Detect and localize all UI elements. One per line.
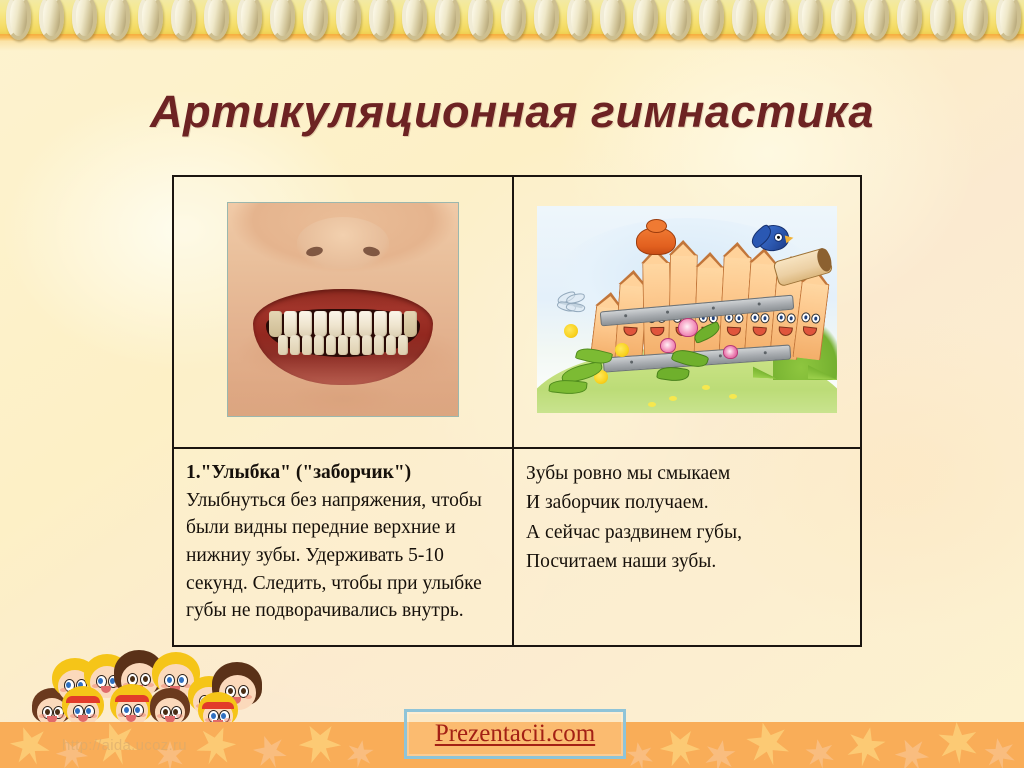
- dragonfly-icon: [549, 293, 585, 315]
- binding-ring: [39, 0, 64, 40]
- picket-eye: [801, 312, 811, 323]
- binding-ring: [534, 0, 559, 40]
- tooth: [344, 311, 358, 337]
- ground-dot: [648, 402, 656, 407]
- chin-shading: [228, 356, 458, 416]
- binding-ring: [864, 0, 889, 40]
- maple-leaf-icon: [4, 720, 55, 768]
- tooth: [299, 311, 313, 337]
- binding-ring: [765, 0, 790, 40]
- dragonfly-wing: [565, 301, 586, 314]
- binding-ring: [336, 0, 361, 40]
- poem-line: И заборчик получаем.: [526, 488, 848, 517]
- exercise-body: Улыбнуться без напряжения, чтобы были ви…: [186, 487, 500, 625]
- child-cheek: [90, 714, 97, 718]
- poem-line: Посчитаем наши зубы.: [526, 547, 848, 576]
- binding-ring: [963, 0, 988, 40]
- spiral-notebook-binding: [0, 0, 1024, 46]
- fence-illustration: [537, 206, 837, 413]
- maple-leaf-icon: [248, 730, 292, 768]
- binding-rings: [0, 0, 1024, 44]
- binding-ring: [138, 0, 163, 40]
- binding-ring: [732, 0, 757, 40]
- tooth: [284, 311, 298, 337]
- tooth: [389, 311, 403, 337]
- maple-leaf-icon: [803, 737, 838, 768]
- tooth: [314, 311, 328, 337]
- binding-ring: [303, 0, 328, 40]
- maple-leaf-icon: [842, 723, 889, 768]
- tooth: [362, 335, 373, 355]
- picket-smile: [727, 327, 741, 337]
- binding-ring: [501, 0, 526, 40]
- exercise-heading: 1."Улыбка" ("заборчик"): [186, 459, 500, 487]
- poem-line: А сейчас раздвинем губы,: [526, 518, 848, 547]
- binding-ring: [72, 0, 97, 40]
- table-row-images: [173, 176, 861, 448]
- tooth: [329, 311, 343, 337]
- binding-ring: [204, 0, 229, 40]
- picket-smile: [623, 327, 638, 337]
- tooth: [386, 335, 397, 355]
- binding-ring: [699, 0, 724, 40]
- maple-leaf-icon: [624, 740, 656, 768]
- binding-ring: [402, 0, 427, 40]
- nose: [297, 217, 389, 269]
- tooth: [350, 335, 361, 355]
- flower-pink: [723, 345, 738, 359]
- binding-ring: [237, 0, 262, 40]
- binding-ring: [369, 0, 394, 40]
- poem-line: Зубы ровно мы смыкаем: [526, 459, 848, 488]
- maple-leaf-icon: [889, 732, 934, 768]
- binding-ring: [996, 0, 1021, 40]
- binding-ring: [633, 0, 658, 40]
- child-cheek: [118, 713, 125, 717]
- tooth: [404, 311, 418, 337]
- maple-leaf-icon: [981, 735, 1018, 768]
- child-headband: [115, 695, 150, 702]
- cell-exercise-description: 1."Улыбка" ("заборчик") Улыбнуться без н…: [173, 448, 513, 646]
- children-illustration: [22, 644, 287, 730]
- binding-ring: [798, 0, 823, 40]
- binding-ring: [105, 0, 130, 40]
- prezentacii-link[interactable]: Prezentacii.com: [435, 720, 595, 748]
- picket-eye: [760, 313, 770, 324]
- binding-ring: [600, 0, 625, 40]
- binding-ring: [468, 0, 493, 40]
- tooth: [398, 335, 409, 355]
- picket-smile: [650, 327, 664, 336]
- picket-smile: [802, 326, 817, 337]
- picket-eye: [734, 313, 744, 323]
- binding-ring: [435, 0, 460, 40]
- child-cheek: [245, 695, 252, 699]
- maple-leaf-icon: [344, 738, 376, 768]
- bird-beak: [785, 233, 794, 242]
- binding-ring: [567, 0, 592, 40]
- binding-ring: [6, 0, 31, 40]
- maple-leaf-icon: [936, 721, 981, 766]
- cell-smile-photo: [173, 176, 513, 448]
- tooth: [302, 335, 313, 355]
- maple-leaf-icon: [741, 717, 794, 768]
- tooth: [314, 335, 325, 355]
- source-link-box[interactable]: Prezentacii.com: [404, 709, 626, 759]
- tooth: [338, 335, 349, 355]
- picket-smile: [752, 327, 767, 337]
- child-cheek: [70, 714, 77, 718]
- picket-eye: [811, 313, 821, 324]
- picket-eye: [750, 312, 760, 323]
- maple-leaf-icon: [190, 720, 242, 768]
- binding-ring: [270, 0, 295, 40]
- maple-leaf-icon: [701, 737, 738, 768]
- lower-teeth: [277, 335, 409, 355]
- smile-photo: [227, 202, 459, 417]
- ground-dot: [669, 396, 677, 401]
- bird-eye: [773, 232, 784, 243]
- cell-poem: Зубы ровно мы смыкаем И заборчик получае…: [513, 448, 861, 646]
- picket-smile: [778, 327, 793, 337]
- binding-ring: [930, 0, 955, 40]
- tooth: [269, 311, 283, 337]
- tooth: [290, 335, 301, 355]
- table-row-text: 1."Улыбка" ("заборчик") Улыбнуться без н…: [173, 448, 861, 646]
- tooth: [278, 335, 289, 355]
- binding-ring: [897, 0, 922, 40]
- picket-eye: [776, 312, 786, 323]
- binding-ring: [666, 0, 691, 40]
- child-headband: [66, 696, 99, 703]
- binding-ring: [831, 0, 856, 40]
- maple-leaf-icon: [291, 715, 348, 768]
- site-watermark: http://aida.ucoz.ru: [62, 737, 187, 754]
- maple-leaf-icon: [653, 721, 708, 768]
- tooth: [359, 311, 373, 337]
- child-headband: [202, 702, 234, 709]
- page-title: Артикуляционная гимнастика: [0, 86, 1024, 138]
- cell-fence-illustration: [513, 176, 861, 448]
- dandelion-flower: [564, 324, 578, 338]
- upper-teeth: [268, 311, 418, 337]
- tooth: [374, 335, 385, 355]
- binding-ring: [171, 0, 196, 40]
- content-table: 1."Улыбка" ("заборчик") Улыбнуться без н…: [172, 175, 862, 647]
- picket-eye: [786, 313, 796, 324]
- tooth: [326, 335, 337, 355]
- slide-canvas: Артикуляционная гимнастика: [0, 0, 1024, 768]
- picket-hat: [636, 227, 676, 255]
- tooth: [374, 311, 388, 337]
- ground-dot: [729, 394, 737, 399]
